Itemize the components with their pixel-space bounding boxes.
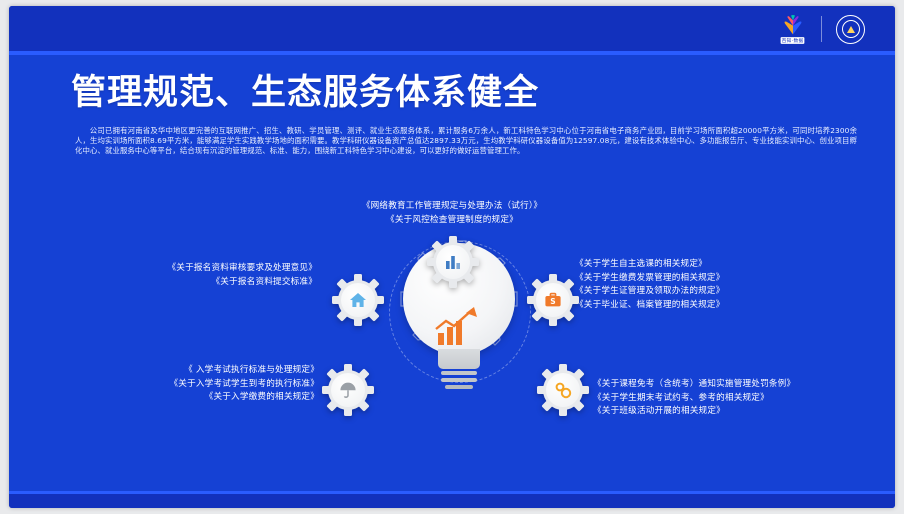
- label-group-right-bottom: 《关于课程免考（含统考）通知实施管理处罚条例》 《关于学生期末考试约考、参考的相…: [593, 378, 883, 419]
- label-line: 《关于报名资料审核要求及处理意见》: [97, 262, 317, 276]
- lightbulb-base-ring-1: [441, 371, 477, 375]
- home-icon: [348, 290, 368, 310]
- seal-triangle: [847, 26, 855, 33]
- node-right-top[interactable]: S: [527, 274, 579, 326]
- svg-text:S: S: [550, 297, 555, 306]
- lightbulb-base-ring-3: [445, 385, 473, 389]
- label-group-left-bottom: 《 入学考试执行标准与处理规定》 《关于入学考试学生到考的执行标准》 《关于入学…: [47, 364, 319, 405]
- label-line: 《关于学生缴费发票管理的相关规定》: [575, 272, 815, 286]
- intro-paragraph: 公司已拥有河南省及华中地区更完善的互联网推广、招生、教研、学员管理、测评、就业生…: [75, 126, 857, 156]
- node-face: [331, 373, 365, 407]
- label-line: 《关于入学考试学生到考的执行标准》: [47, 378, 319, 392]
- label-line: 《 入学考试执行标准与处理规定》: [47, 364, 319, 378]
- node-face: [341, 283, 375, 317]
- label-line: 《关于学生期末考试约考、参考的相关规定》: [593, 392, 883, 406]
- node-face: [436, 245, 470, 279]
- cogs-icon: [553, 380, 573, 400]
- lightbulb-neck: [438, 349, 480, 369]
- briefcase-money-icon: S: [543, 290, 563, 310]
- page-title: 管理规范、生态服务体系健全: [71, 74, 539, 113]
- label-group-left-top: 《关于报名资料审核要求及处理意见》 《关于报名资料提交标准》: [97, 262, 317, 289]
- brand-logo: 百知·数据: [779, 15, 807, 44]
- slide-top-bar: [9, 6, 895, 51]
- node-left-bottom[interactable]: [322, 364, 374, 416]
- seal-inner-ring: [842, 20, 860, 38]
- node-right-bottom[interactable]: [537, 364, 589, 416]
- label-group-right-top: 《关于学生自主选课的相关规定》 《关于学生缴费发票管理的相关规定》 《关于学生证…: [575, 258, 815, 312]
- node-left-top[interactable]: [332, 274, 384, 326]
- label-line: 《关于学生证管理及领取办法的规定》: [575, 285, 815, 299]
- node-top[interactable]: [427, 236, 479, 288]
- node-face: [546, 373, 580, 407]
- brand-logo-caption: 百知·数据: [781, 37, 805, 44]
- label-line: 《关于课程免考（含统考）通知实施管理处罚条例》: [593, 378, 883, 392]
- presentation-slide: 百知·数据 管理规范、生态服务体系健全 公司已拥有河南省及华中地区更完善的互联网…: [9, 6, 895, 508]
- bird-leaf-logo-icon: [779, 15, 807, 35]
- logo-group: 百知·数据: [779, 10, 865, 48]
- node-face: S: [536, 283, 570, 317]
- label-line: 《网络教育工作管理规定与处理办法（试行）》: [320, 200, 584, 214]
- label-group-top: 《网络教育工作管理规定与处理办法（试行）》 《关于风控检查管理制度的规定》: [320, 200, 584, 227]
- university-seal-logo-icon: [836, 15, 865, 44]
- label-line: 《关于风控检查管理制度的规定》: [320, 214, 584, 228]
- bar-chart-icon: [443, 252, 463, 272]
- umbrella-icon: [338, 380, 358, 400]
- label-line: 《关于毕业证、档案管理的相关规定》: [575, 299, 815, 313]
- label-line: 《关于班级活动开展的相关规定》: [593, 405, 883, 419]
- label-line: 《关于报名资料提交标准》: [97, 276, 317, 290]
- lightbulb-base-ring-2: [441, 378, 477, 382]
- label-line: 《关于入学缴费的相关规定》: [47, 391, 319, 405]
- growth-bar-chart-icon: [432, 307, 488, 347]
- logo-divider: [821, 16, 822, 42]
- top-accent-strip: [9, 51, 895, 55]
- label-line: 《关于学生自主选课的相关规定》: [575, 258, 815, 272]
- slide-bottom-bar: [9, 494, 895, 508]
